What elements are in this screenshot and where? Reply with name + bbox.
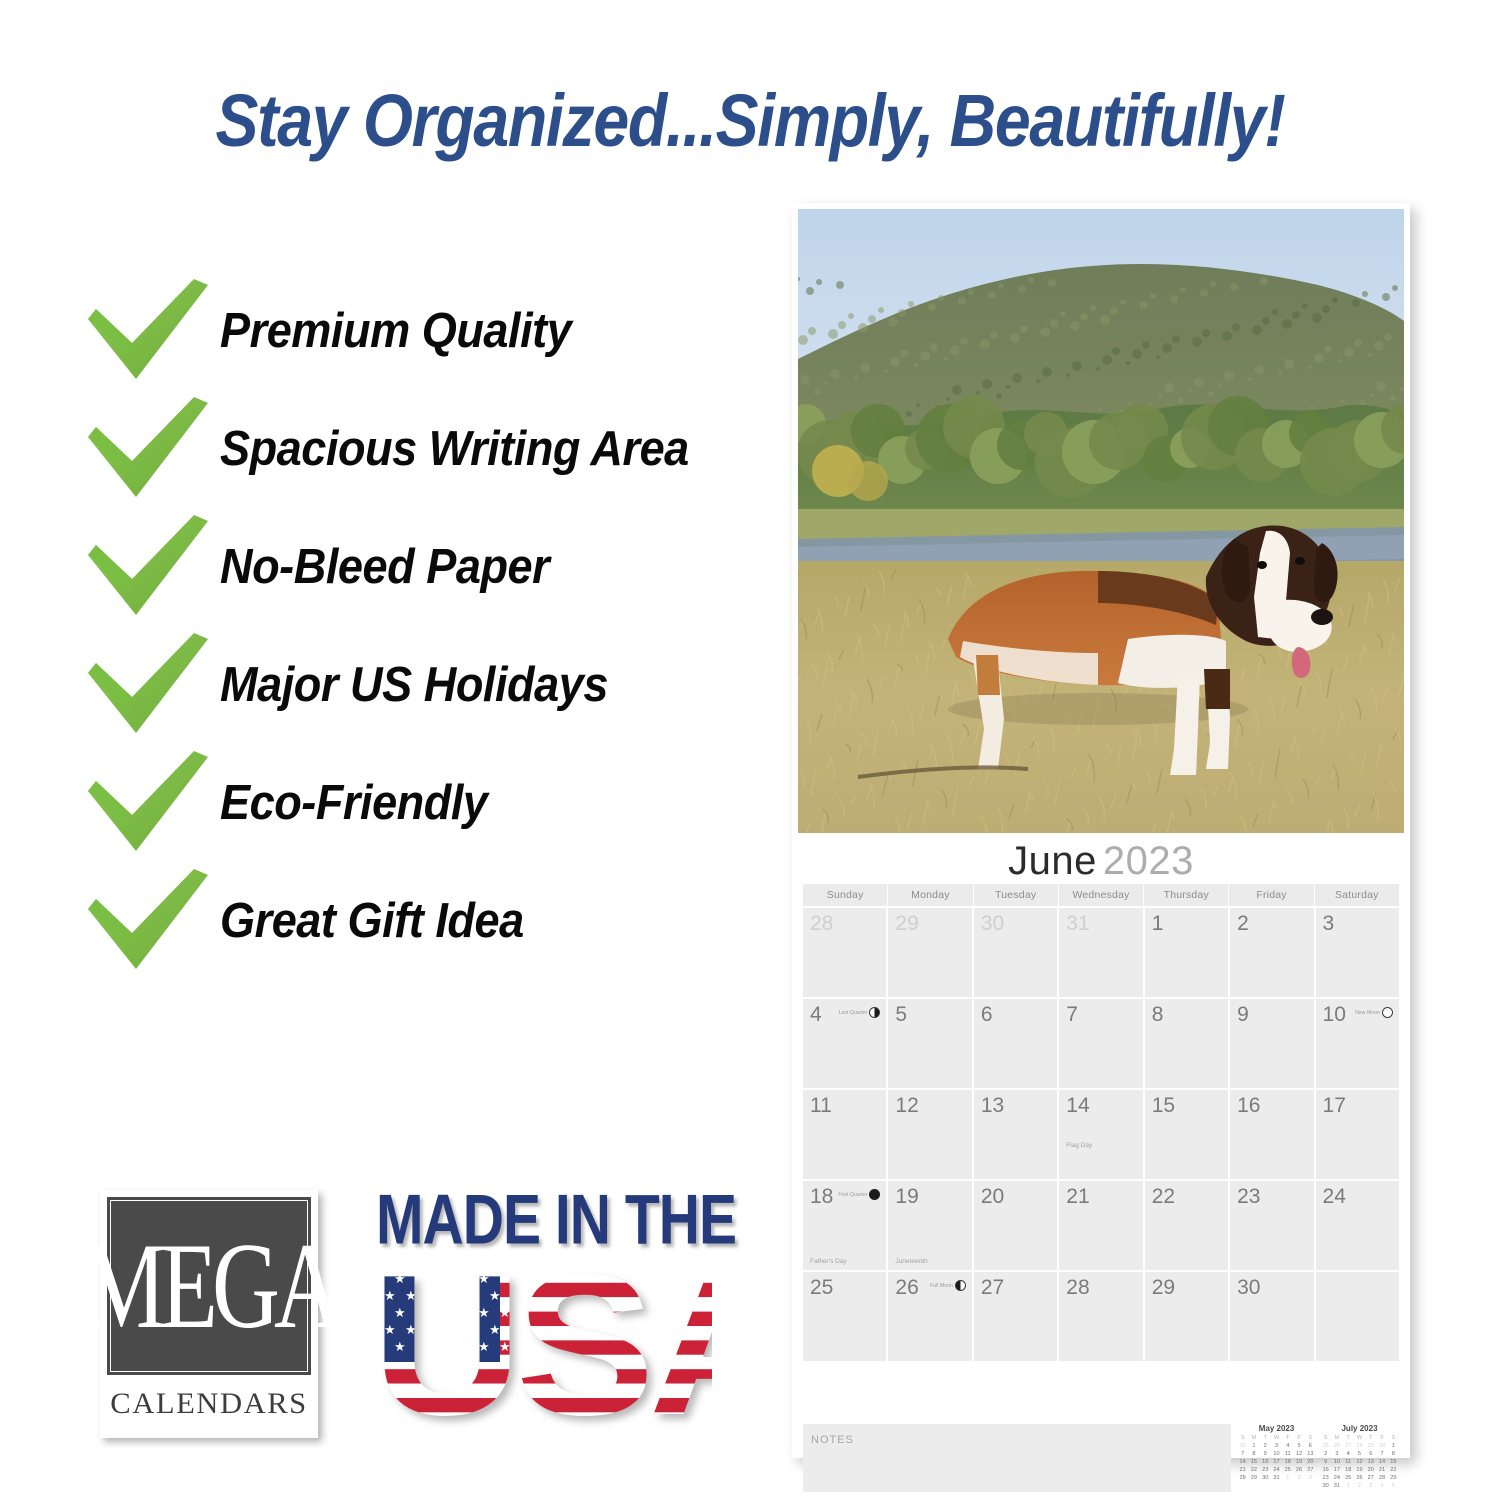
moon-glyph	[869, 1007, 880, 1018]
check-icon	[86, 279, 210, 383]
day-number: 4	[810, 1003, 822, 1027]
mini-day-cell: 11	[1343, 1458, 1354, 1466]
calendar-day-cell[interactable]: 7	[1059, 999, 1144, 1088]
day-number: 20	[981, 1185, 1004, 1209]
feature-label: Great Gift Idea	[220, 893, 524, 949]
check-icon	[86, 279, 210, 383]
mini-calendar: May 2023SMTWTFS3012345678910111213141516…	[1237, 1424, 1316, 1492]
moon-phase-icon: New Moon	[1355, 1007, 1393, 1018]
mini-day-cell: 6	[1305, 1442, 1316, 1450]
feature-item: Major US Holidays	[86, 626, 786, 744]
mini-day-cell: 24	[1331, 1474, 1342, 1482]
made-in-the-text: MADE IN THE	[376, 1188, 703, 1252]
mini-day-cell: 27	[1343, 1442, 1354, 1450]
mini-day-cell: 3	[1365, 1482, 1376, 1490]
moon-phase-icon: Full Moon	[930, 1280, 966, 1291]
mini-day-cell: 7	[1376, 1450, 1387, 1458]
mini-day-cell: 21	[1237, 1466, 1248, 1474]
mini-week-row: 2345678	[1320, 1450, 1399, 1458]
feature-list: Premium QualitySpacious Writing AreaNo-B…	[86, 272, 786, 980]
mini-day-cell: 2	[1293, 1474, 1304, 1482]
mega-logo-subtitle: CALENDARS	[105, 1387, 313, 1421]
mini-day-cell: 22	[1388, 1466, 1399, 1474]
mini-day-cell: 29	[1248, 1474, 1259, 1482]
mini-day-cell: 4	[1376, 1482, 1387, 1490]
calendar-day-cell[interactable]: 28	[1059, 1272, 1144, 1361]
calendar-day-cell[interactable]: 28	[803, 908, 888, 997]
day-number: 19	[895, 1185, 918, 1209]
mini-day-cell: 9	[1260, 1450, 1271, 1458]
calendar-day-cell[interactable]: 27	[974, 1272, 1059, 1361]
mini-day-cell: 28	[1354, 1442, 1365, 1450]
mini-day-cell: 18	[1343, 1466, 1354, 1474]
svg-text:★: ★	[489, 1289, 501, 1304]
day-number: 24	[1323, 1185, 1346, 1209]
calendar-year: 2023	[1103, 839, 1194, 883]
mini-day-cell: 31	[1331, 1482, 1342, 1490]
day-number: 5	[895, 1003, 907, 1027]
mini-day-cell: 29	[1388, 1474, 1399, 1482]
mini-day-header: T	[1260, 1434, 1271, 1442]
mini-day-cell: 11	[1282, 1450, 1293, 1458]
day-number: 16	[1237, 1094, 1260, 1118]
svg-text:★: ★	[426, 1323, 438, 1338]
feature-label: Major US Holidays	[220, 657, 608, 713]
svg-text:★: ★	[489, 1255, 501, 1270]
svg-text:★: ★	[447, 1323, 459, 1338]
feature-item: No-Bleed Paper	[86, 508, 786, 626]
day-header-friday: Friday	[1229, 884, 1314, 906]
mini-day-header: S	[1237, 1434, 1248, 1442]
calendar-day-cell[interactable]: 1	[1145, 908, 1230, 997]
day-header-saturday: Saturday	[1315, 884, 1399, 906]
calendar-day-cell[interactable]: 21	[1059, 1181, 1144, 1270]
svg-text:★: ★	[478, 1306, 490, 1321]
mini-day-header: S	[1320, 1434, 1331, 1442]
svg-text:★: ★	[426, 1255, 438, 1270]
mini-day-cell: 2	[1354, 1482, 1365, 1490]
svg-text:★: ★	[489, 1323, 501, 1338]
mini-week-row: 21222324252627	[1237, 1466, 1316, 1474]
calendar-footer: NOTES May 2023SMTWTFS3012345678910111213…	[803, 1424, 1399, 1492]
mini-day-cell: 5	[1293, 1442, 1304, 1450]
mini-day-cell: 2	[1260, 1442, 1271, 1450]
calendar-day-cell[interactable]: 6	[974, 999, 1059, 1088]
day-number: 28	[1066, 1276, 1089, 1300]
notes-box[interactable]: NOTES	[803, 1424, 1231, 1492]
day-number: 26	[895, 1276, 918, 1300]
check-icon	[86, 869, 210, 973]
mini-day-header: T	[1282, 1434, 1293, 1442]
mini-day-cell: 25	[1320, 1442, 1331, 1450]
check-icon	[86, 633, 210, 737]
moon-phase-label: Last Quarter	[839, 1010, 868, 1016]
mini-day-cell: 20	[1305, 1458, 1316, 1466]
mini-day-cell: 7	[1237, 1450, 1248, 1458]
mini-week-row: 14151617181920	[1237, 1458, 1316, 1466]
svg-text:★: ★	[436, 1306, 448, 1321]
notes-label: NOTES	[811, 1434, 854, 1446]
feature-item: Eco-Friendly	[86, 744, 786, 862]
svg-text:★: ★	[415, 1306, 427, 1321]
calendar-day-cell[interactable]: 5	[888, 999, 973, 1088]
day-number: 31	[1066, 912, 1089, 936]
mini-day-cell: 8	[1388, 1450, 1399, 1458]
day-number: 7	[1066, 1003, 1078, 1027]
day-number: 3	[1323, 912, 1335, 936]
mini-day-cell: 29	[1365, 1442, 1376, 1450]
mini-day-cell: 2	[1320, 1450, 1331, 1458]
svg-text:★: ★	[415, 1340, 427, 1355]
mini-day-cell: 4	[1282, 1442, 1293, 1450]
mini-day-header: M	[1331, 1434, 1342, 1442]
calendar-day-cell[interactable]: 9	[1230, 999, 1315, 1088]
day-number: 13	[981, 1094, 1004, 1118]
mini-day-cell: 31	[1271, 1474, 1282, 1482]
moon-phase-icon: Last Quarter	[839, 1007, 881, 1018]
mini-day-cell: 25	[1343, 1474, 1354, 1482]
page-title: Stay Organized...Simply, Beautifully!	[98, 78, 1403, 163]
svg-text:★: ★	[499, 1272, 511, 1287]
calendar-photo	[798, 209, 1404, 833]
svg-text:★: ★	[426, 1289, 438, 1304]
day-number: 25	[810, 1276, 833, 1300]
calendar-day-cell[interactable]: 29	[888, 908, 973, 997]
calendar-week-row: 18Father's DayFirst Quarter19Juneteenth2…	[803, 1179, 1399, 1270]
calendar-day-cell[interactable]: 13	[974, 1090, 1059, 1179]
calendar-day-cell[interactable]: 19Juneteenth	[888, 1181, 973, 1270]
mini-day-cell: 15	[1388, 1458, 1399, 1466]
day-number: 29	[895, 912, 918, 936]
calendar-week-row: 4Last Quarter5678910New Moon	[803, 997, 1399, 1088]
mini-day-cell: 3	[1331, 1450, 1342, 1458]
svg-text:★: ★	[394, 1272, 406, 1287]
mini-week-row: 78910111213	[1237, 1450, 1316, 1458]
calendar-day-cell[interactable]: 18Father's DayFirst Quarter	[803, 1181, 888, 1270]
mini-day-cell: 19	[1293, 1458, 1304, 1466]
calendar-day-cell[interactable]: 23	[1230, 1181, 1315, 1270]
mini-day-cell: 21	[1376, 1466, 1387, 1474]
mini-calendars: May 2023SMTWTFS3012345678910111213141516…	[1231, 1424, 1399, 1492]
mini-day-cell: 17	[1271, 1458, 1282, 1466]
mini-day-cell: 16	[1320, 1466, 1331, 1474]
calendar-day-cell[interactable]: 2	[1230, 908, 1315, 997]
mini-day-cell: 13	[1365, 1458, 1376, 1466]
mini-day-cell: 14	[1237, 1458, 1248, 1466]
feature-label: No-Bleed Paper	[220, 539, 549, 595]
mega-wordmark: MEGA	[82, 1225, 335, 1348]
mini-day-cell: 30	[1237, 1442, 1248, 1450]
calendar-day-cell[interactable]: 31	[1059, 908, 1144, 997]
day-number: 6	[981, 1003, 993, 1027]
svg-text:★: ★	[405, 1255, 417, 1270]
day-number: 30	[1237, 1276, 1260, 1300]
calendar-day-cell[interactable]: 24	[1316, 1181, 1399, 1270]
mini-day-cell: 3	[1271, 1442, 1282, 1450]
holiday-label: Father's Day	[810, 1258, 847, 1265]
mini-day-header: T	[1343, 1434, 1354, 1442]
mini-week-row: 9101112131415	[1320, 1458, 1399, 1466]
mini-day-cell: 15	[1248, 1458, 1259, 1466]
check-icon	[86, 515, 210, 619]
mini-day-cell: 8	[1248, 1450, 1259, 1458]
mini-day-cell: 16	[1260, 1458, 1271, 1466]
moon-phase-label: Full Moon	[930, 1283, 953, 1289]
mini-day-cell: 1	[1248, 1442, 1259, 1450]
mini-week-row: 30123456	[1237, 1442, 1316, 1450]
check-icon	[86, 751, 210, 855]
mini-calendar-title: July 2023	[1320, 1424, 1399, 1433]
calendar-day-cell[interactable]: 22	[1145, 1181, 1230, 1270]
mini-day-cell: 20	[1365, 1466, 1376, 1474]
calendar-day-cell[interactable]: 16	[1230, 1090, 1315, 1179]
day-number: 12	[895, 1094, 918, 1118]
svg-text:★: ★	[457, 1272, 469, 1287]
svg-text:★: ★	[405, 1289, 417, 1304]
moon-glyph	[955, 1280, 966, 1291]
feature-item: Great Gift Idea	[86, 862, 786, 980]
day-header-monday: Monday	[888, 884, 973, 906]
mini-calendar-title: May 2023	[1237, 1424, 1316, 1433]
mini-day-cell: 28	[1237, 1474, 1248, 1482]
mini-day-header: F	[1376, 1434, 1387, 1442]
svg-text:★: ★	[384, 1323, 396, 1338]
calendar-week-row: 2526Full Moon27282930	[803, 1270, 1399, 1361]
calendar-day-cell[interactable]: 26Full Moon	[888, 1272, 973, 1361]
calendar-day-cell[interactable]: 30	[1230, 1272, 1315, 1361]
day-header-sunday: Sunday	[803, 884, 888, 906]
mini-day-cell: 5	[1354, 1450, 1365, 1458]
mini-calendar: July 2023SMTWTFS252627282930123456789101…	[1320, 1424, 1399, 1492]
calendar-day-cell[interactable]: 11	[803, 1090, 888, 1179]
svg-text:★: ★	[447, 1289, 459, 1304]
mini-day-cell: 17	[1331, 1466, 1342, 1474]
check-icon	[86, 633, 210, 737]
calendar-day-cell[interactable]: 12	[888, 1090, 973, 1179]
holiday-label: Flag Day	[1066, 1142, 1092, 1149]
day-number: 22	[1152, 1185, 1175, 1209]
mini-day-header: W	[1271, 1434, 1282, 1442]
mini-day-cell: 19	[1354, 1466, 1365, 1474]
mini-day-cell: 12	[1293, 1450, 1304, 1458]
mini-day-cell: 30	[1376, 1442, 1387, 1450]
day-number: 11	[810, 1094, 832, 1118]
mini-day-cell: 1	[1343, 1482, 1354, 1490]
mini-day-header: F	[1293, 1434, 1304, 1442]
calendar-day-cell[interactable]: 14Flag Day	[1059, 1090, 1144, 1179]
mini-day-header: S	[1305, 1434, 1316, 1442]
calendar-product-image: June2023 SundayMondayTuesdayWednesdayThu…	[792, 203, 1410, 1458]
svg-text:★: ★	[415, 1272, 427, 1287]
svg-text:★: ★	[436, 1340, 448, 1355]
mini-day-cell: 4	[1343, 1450, 1354, 1458]
svg-text:★: ★	[478, 1340, 490, 1355]
feature-label: Spacious Writing Area	[220, 421, 689, 477]
svg-text:★: ★	[468, 1323, 480, 1338]
mini-week-row: 28293031123	[1237, 1474, 1316, 1482]
mega-logo-box: MEGA	[107, 1197, 311, 1375]
mini-day-header: W	[1354, 1434, 1365, 1442]
mini-day-cell: 9	[1320, 1458, 1331, 1466]
calendar-month-title: June2023	[792, 839, 1410, 884]
usa-flag-wordmark: USA★★★★★★★★★★★★★★★★★★★★★★★★★★★★★★★★★★★★	[372, 1254, 712, 1442]
calendar-day-cell[interactable]: 17	[1316, 1090, 1399, 1179]
check-icon	[86, 869, 210, 973]
svg-text:★: ★	[499, 1306, 511, 1321]
mini-day-cell: 26	[1293, 1466, 1304, 1474]
calendar-day-cell[interactable]: 15	[1145, 1090, 1230, 1179]
svg-text:★: ★	[436, 1272, 448, 1287]
calendar-day-cell[interactable]: 29	[1145, 1272, 1230, 1361]
mini-day-header: T	[1365, 1434, 1376, 1442]
moon-glyph	[869, 1189, 880, 1200]
svg-text:★: ★	[394, 1306, 406, 1321]
day-number: 14	[1066, 1094, 1089, 1118]
calendar-day-cell[interactable]: 25	[803, 1272, 888, 1361]
svg-text:★: ★	[468, 1289, 480, 1304]
svg-text:★: ★	[384, 1255, 396, 1270]
mini-day-cell: 18	[1282, 1458, 1293, 1466]
mini-day-cell: 27	[1305, 1466, 1316, 1474]
mini-day-cell: 26	[1354, 1474, 1365, 1482]
moon-phase-icon: First Quarter	[838, 1189, 880, 1200]
mini-day-cell: 5	[1388, 1482, 1399, 1490]
feature-label: Eco-Friendly	[220, 775, 488, 831]
day-number: 18	[810, 1185, 833, 1209]
mini-day-cell: 23	[1260, 1466, 1271, 1474]
check-icon	[86, 397, 210, 501]
day-header-thursday: Thursday	[1144, 884, 1229, 906]
mini-day-cell: 6	[1365, 1450, 1376, 1458]
svg-text:★: ★	[384, 1289, 396, 1304]
mini-day-cell: 28	[1376, 1474, 1387, 1482]
calendar-month-name: June	[1008, 839, 1097, 883]
calendar-grid: SundayMondayTuesdayWednesdayThursdayFrid…	[803, 884, 1399, 1361]
day-number: 9	[1237, 1003, 1249, 1027]
mini-calendar-table: SMTWTFS301234567891011121314151617181920…	[1237, 1434, 1316, 1482]
dog-meadow-photo	[798, 209, 1404, 833]
svg-text:★: ★	[457, 1340, 469, 1355]
mini-day-cell: 22	[1248, 1466, 1259, 1474]
mini-day-cell: 30	[1320, 1482, 1331, 1490]
mini-day-cell: 23	[1320, 1474, 1331, 1482]
feature-item: Premium Quality	[86, 272, 786, 390]
moon-phase-label: New Moon	[1355, 1010, 1380, 1016]
mega-calendars-logo: MEGA CALENDARS	[100, 1190, 318, 1438]
svg-text:★: ★	[405, 1323, 417, 1338]
day-number: 23	[1237, 1185, 1260, 1209]
mini-week-row: 2526272829301	[1320, 1442, 1399, 1450]
svg-text:★: ★	[478, 1272, 490, 1287]
calendar-day-cell[interactable]: 10New Moon	[1316, 999, 1399, 1088]
mini-week-row: 16171819202122	[1320, 1466, 1399, 1474]
calendar-day-cell[interactable]: 30	[974, 908, 1059, 997]
day-number: 8	[1152, 1003, 1164, 1027]
calendar-day-cell[interactable]: 3	[1316, 908, 1399, 997]
moon-glyph	[1382, 1007, 1393, 1018]
svg-text:★: ★	[457, 1306, 469, 1321]
mini-day-cell: 12	[1354, 1458, 1365, 1466]
calendar-week-row: 28293031123	[803, 906, 1399, 997]
check-icon	[86, 751, 210, 855]
day-header-row: SundayMondayTuesdayWednesdayThursdayFrid…	[803, 884, 1399, 906]
check-icon	[86, 515, 210, 619]
mini-day-cell: 30	[1260, 1474, 1271, 1482]
calendar-day-cell[interactable]: 4Last Quarter	[803, 999, 888, 1088]
check-icon	[86, 397, 210, 501]
mini-day-cell: 10	[1271, 1450, 1282, 1458]
moon-phase-label: First Quarter	[838, 1192, 867, 1198]
day-number: 27	[981, 1276, 1004, 1300]
day-number: 15	[1152, 1094, 1175, 1118]
mini-day-cell: 27	[1365, 1474, 1376, 1482]
mini-day-cell: 3	[1305, 1474, 1316, 1482]
calendar-day-cell[interactable]	[1316, 1272, 1399, 1361]
day-number: 29	[1152, 1276, 1175, 1300]
calendar-day-cell[interactable]: 8	[1145, 999, 1230, 1088]
day-number: 17	[1323, 1094, 1346, 1118]
mini-day-cell: 24	[1271, 1466, 1282, 1474]
mini-day-cell: 10	[1331, 1458, 1342, 1466]
day-number: 2	[1237, 912, 1249, 936]
day-number: 28	[810, 912, 833, 936]
mini-day-header: M	[1248, 1434, 1259, 1442]
svg-text:★: ★	[499, 1340, 511, 1355]
mini-day-cell: 14	[1376, 1458, 1387, 1466]
mini-day-cell: 1	[1282, 1474, 1293, 1482]
svg-text:★: ★	[447, 1255, 459, 1270]
mini-day-cell: 13	[1305, 1450, 1316, 1458]
mini-day-cell: 25	[1282, 1466, 1293, 1474]
mini-day-header: S	[1388, 1434, 1399, 1442]
feature-item: Spacious Writing Area	[86, 390, 786, 508]
mini-calendar-table: SMTWTFS252627282930123456789101112131415…	[1320, 1434, 1399, 1490]
feature-label: Premium Quality	[220, 303, 571, 359]
mini-day-cell: 1	[1388, 1442, 1399, 1450]
day-number: 10	[1323, 1003, 1346, 1027]
day-number: 21	[1066, 1185, 1089, 1209]
made-in-usa-badge: MADE IN THE USA★★★★★★★★★★★★★★★★★★★★★★★★★…	[372, 1188, 720, 1446]
holiday-label: Juneteenth	[895, 1258, 927, 1265]
mini-week-row: 303112345	[1320, 1482, 1399, 1490]
svg-text:★: ★	[394, 1340, 406, 1355]
mini-week-row: 23242526272829	[1320, 1474, 1399, 1482]
calendar-day-cell[interactable]: 20	[974, 1181, 1059, 1270]
mini-day-cell: 26	[1331, 1442, 1342, 1450]
svg-text:★: ★	[468, 1255, 480, 1270]
day-header-wednesday: Wednesday	[1059, 884, 1144, 906]
day-number: 1	[1152, 912, 1164, 936]
day-header-tuesday: Tuesday	[974, 884, 1059, 906]
calendar-week-row: 11121314Flag Day151617	[803, 1088, 1399, 1179]
day-number: 30	[981, 912, 1004, 936]
usa-flag-text: USA★★★★★★★★★★★★★★★★★★★★★★★★★★★★★★★★★★★★	[372, 1254, 712, 1442]
